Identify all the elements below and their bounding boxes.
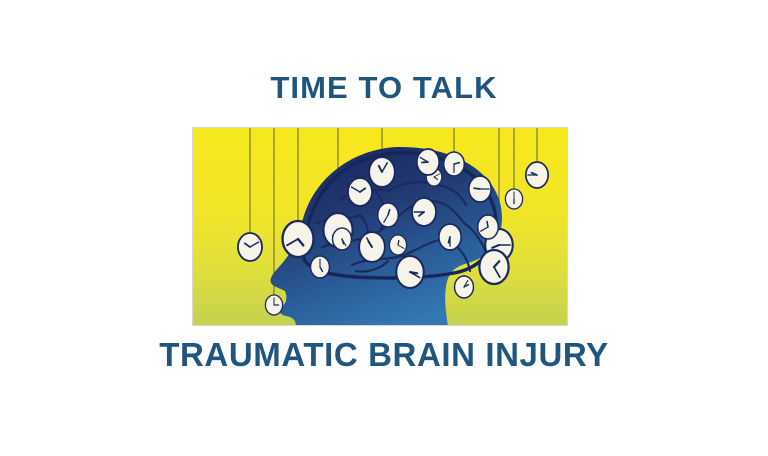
page-title-bottom: TRAUMATIC BRAIN INJURY [0,338,768,371]
clock-icon [444,152,465,176]
clock-icon [311,256,330,278]
clock-icon [526,162,548,188]
clock-icon [359,232,385,262]
clock-icon [505,189,522,209]
clock-icon [412,198,436,226]
clock-icon [389,235,406,255]
clock-icon [333,228,352,250]
clock-icon [479,250,508,284]
clock-icon [369,157,395,187]
clock-icon [283,221,314,257]
clock-icon [417,149,439,175]
illustration-container [192,127,568,326]
clock-icon [396,256,424,288]
poster-canvas: TIME TO TALK [0,0,768,456]
clock-icon [478,215,499,239]
clock-icon [265,295,282,315]
clock-icon [455,276,474,298]
clock-icon [238,233,262,261]
clock-icon [439,224,461,250]
clock-icon [378,203,399,227]
head-clocks-illustration [192,127,568,326]
clock-icon [348,178,372,206]
clock-icon [469,176,491,202]
page-title-top: TIME TO TALK [0,72,768,103]
